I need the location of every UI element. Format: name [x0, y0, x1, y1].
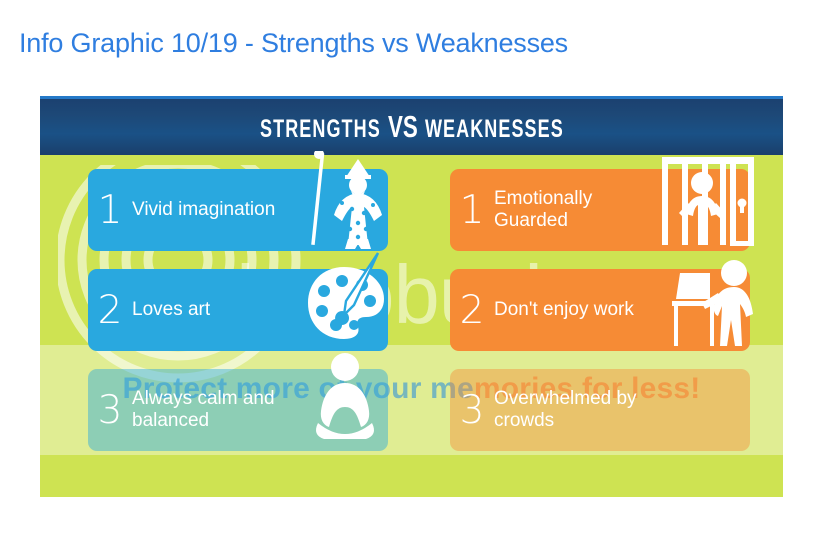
strength-card-1-number: 1	[88, 191, 132, 230]
weakness-card-2-label: Don't enjoy work	[494, 299, 670, 321]
strength-card-2[interactable]: 2 Loves art	[88, 269, 388, 351]
tired-person-at-desk-icon	[658, 251, 756, 351]
weakness-card-1-number: 1	[450, 191, 494, 230]
meditating-person-icon	[296, 351, 394, 451]
strength-card-3[interactable]: 3 Always calm and balanced	[88, 369, 388, 451]
weakness-card-3-label: Overwhelmed by crowds	[494, 388, 670, 432]
paint-palette-icon	[296, 251, 394, 351]
header-word-strengths: STRENGTHS	[260, 115, 381, 143]
weaknesses-column: 1 Emotionally Guarded	[450, 169, 750, 469]
strengths-column: 1 Vivid imagination	[88, 169, 388, 469]
page-title: Info Graphic 10/19 - Strengths vs Weakne…	[19, 28, 568, 59]
weakness-card-1[interactable]: 1 Emotionally Guarded	[450, 169, 750, 251]
strength-card-3-label: Always calm and balanced	[132, 388, 308, 432]
infographic-header-title: STRENGTHSVSWEAKNESSES	[260, 109, 564, 145]
weakness-card-3-number: 3	[450, 391, 494, 430]
person-behind-bars-icon	[658, 151, 756, 251]
wizard-icon	[296, 151, 394, 251]
card-columns: 1 Vivid imagination	[40, 155, 783, 497]
strength-card-1-label: Vivid imagination	[132, 199, 308, 221]
weakness-card-2[interactable]: 2 Don't enjoy work	[450, 269, 750, 351]
weakness-card-3[interactable]: 3 Overwhelmed by crowds	[450, 369, 750, 451]
strength-card-3-number: 3	[88, 391, 132, 430]
header-word-weaknesses: WEAKNESSES	[425, 115, 564, 143]
strength-card-1[interactable]: 1 Vivid imagination	[88, 169, 388, 251]
weakness-card-2-number: 2	[450, 291, 494, 330]
strength-card-2-label: Loves art	[132, 299, 308, 321]
strength-card-2-number: 2	[88, 291, 132, 330]
weakness-card-1-label: Emotionally Guarded	[494, 188, 670, 232]
infographic-image[interactable]: STRENGTHSVSWEAKNESSES photobucket Protec…	[40, 96, 783, 497]
infographic-body: photobucket Protect more of your memorie…	[40, 155, 783, 497]
infographic-header-banner: STRENGTHSVSWEAKNESSES	[40, 96, 783, 155]
header-word-vs: VS	[380, 109, 424, 145]
